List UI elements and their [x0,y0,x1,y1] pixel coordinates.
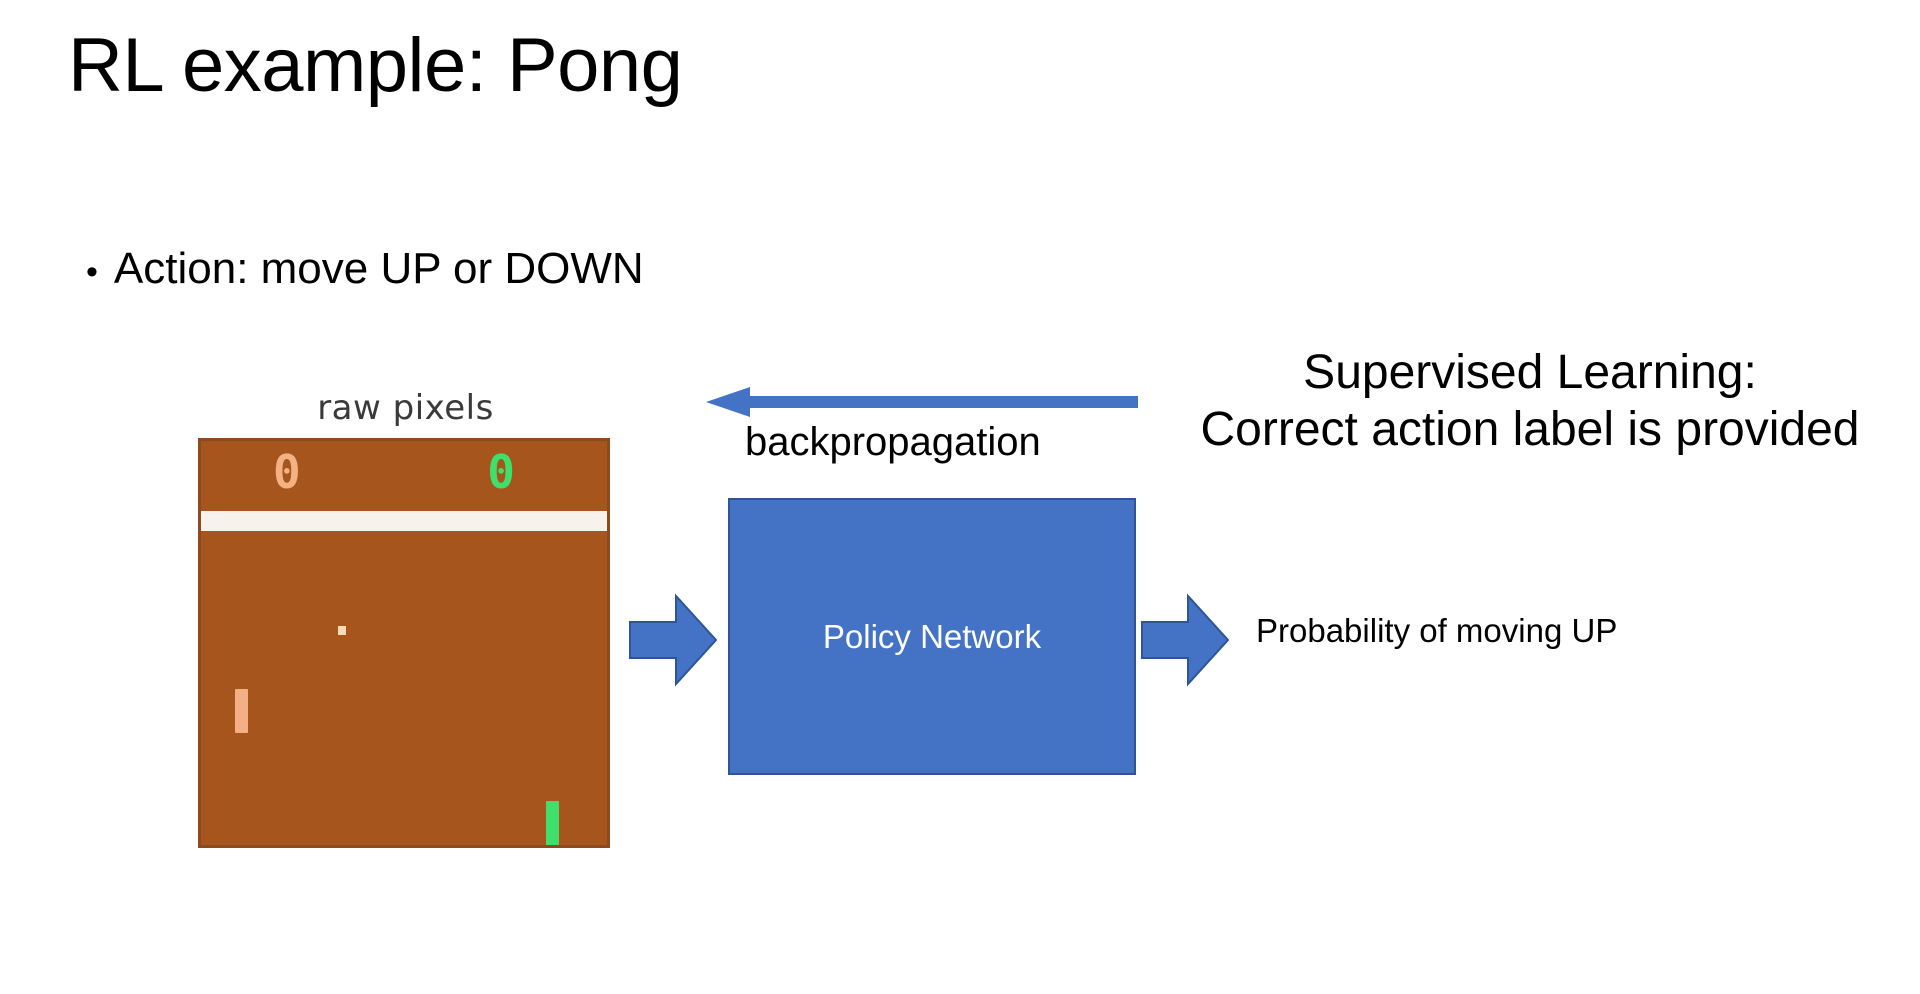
pong-ball [338,626,346,635]
pong-score-band: 0 0 [201,441,607,511]
supervised-learning-description: Correct action label is provided [1140,402,1920,459]
raw-pixels-caption: raw pixels [198,388,613,428]
supervised-learning-heading: Supervised Learning: [1140,345,1920,402]
policy-network-box: Policy Network [728,498,1136,775]
bullet-list-item: • Action: move UP or DOWN [86,247,644,291]
policy-network-label: Policy Network [823,620,1041,653]
supervised-learning-annotation: Supervised Learning: Correct action labe… [1140,345,1920,458]
bullet-text: Action: move UP or DOWN [114,247,644,291]
pong-game-screenshot: 0 0 [198,438,610,848]
pong-score-right: 0 [487,449,515,495]
pong-playfield [201,531,607,845]
page-title: RL example: Pong [68,26,682,106]
backpropagation-label: backpropagation [745,420,1041,465]
raw-pixels-block: raw pixels 0 0 [198,388,613,848]
pong-paddle-right [546,801,559,847]
backpropagation-arrow-icon [706,385,1138,419]
output-probability-label: Probability of moving UP [1256,612,1617,650]
pong-score-left: 0 [273,449,301,495]
input-arrow-icon [628,592,718,688]
pong-divider-bar [201,511,607,531]
pong-paddle-left [235,689,248,733]
bullet-marker-icon: • [86,255,98,289]
output-arrow-icon [1140,592,1230,688]
